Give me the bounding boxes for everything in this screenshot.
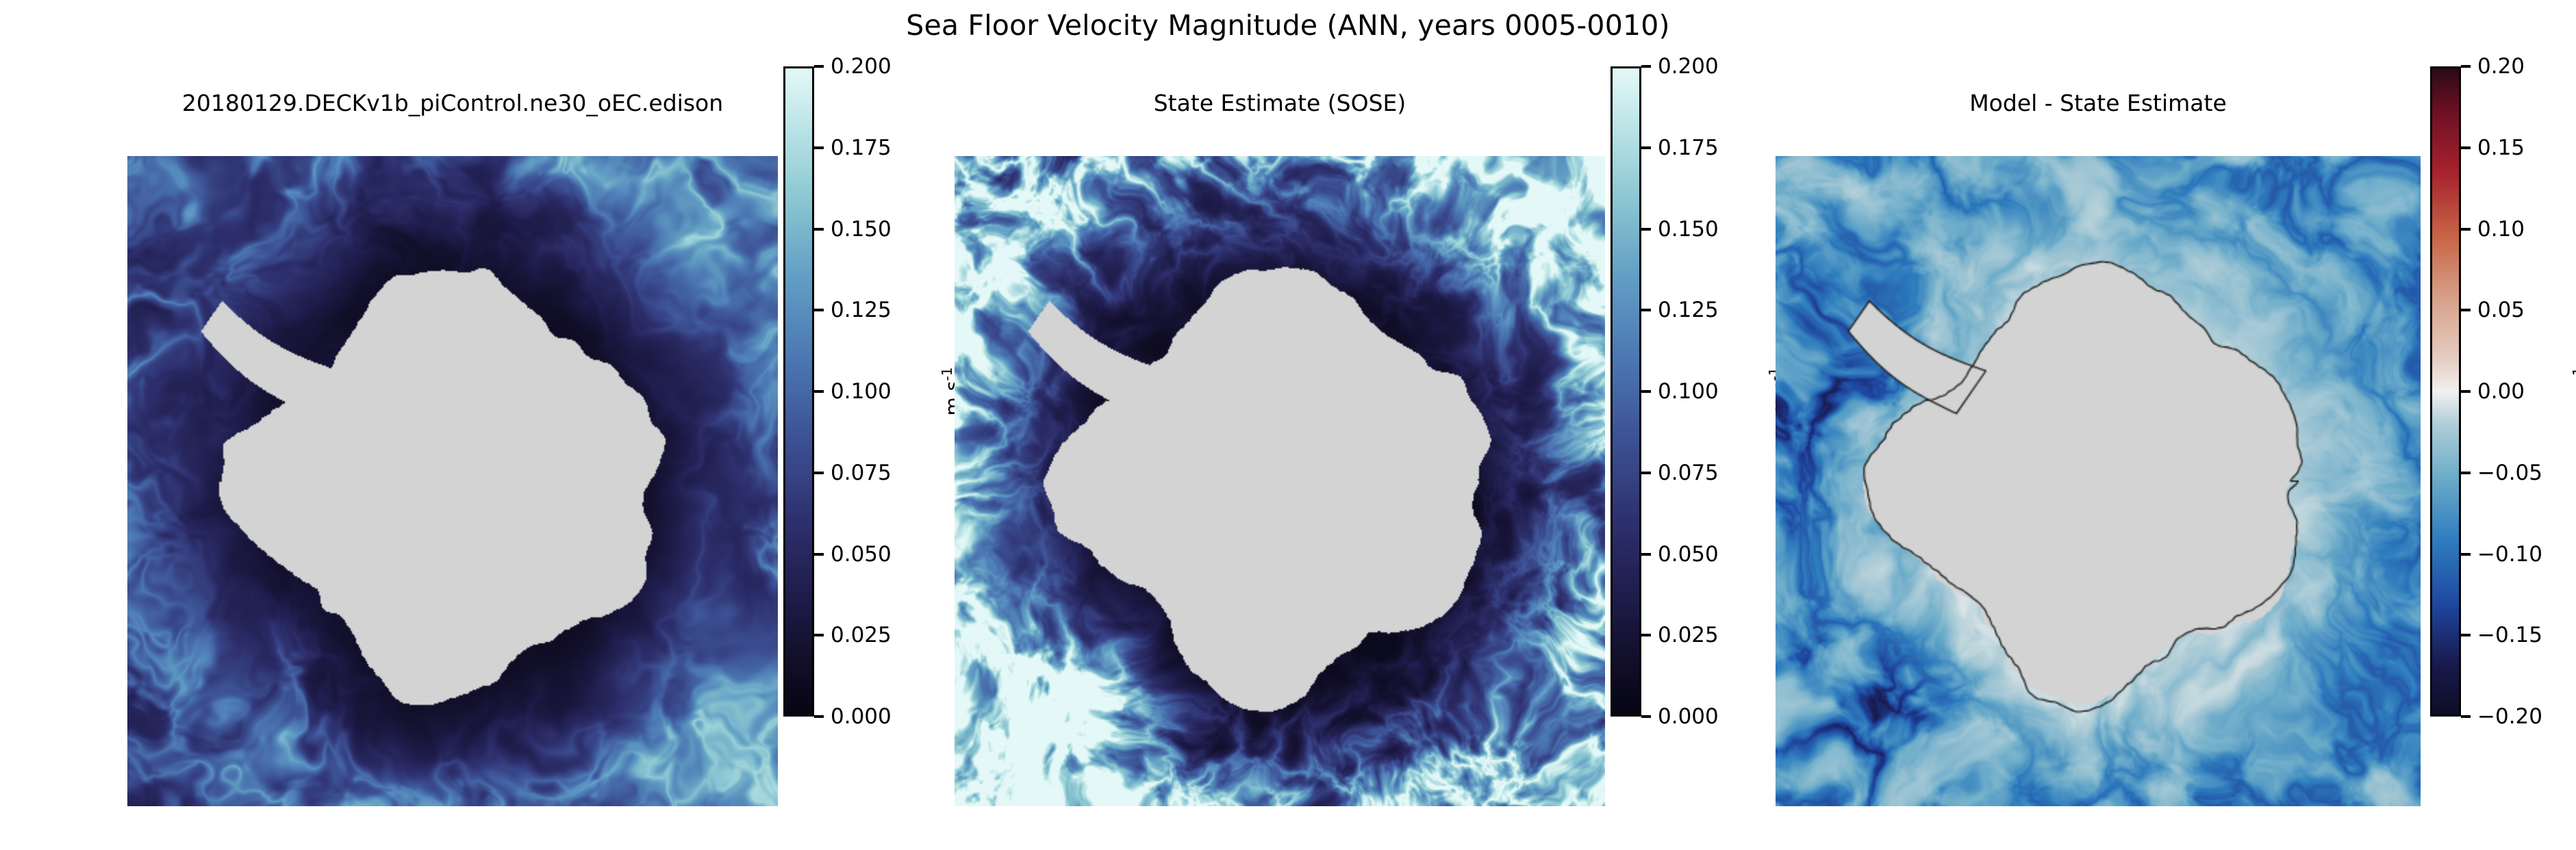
colorbar-tick-label: 0.175: [831, 134, 892, 162]
colorbar-tick-mark: [1641, 146, 1651, 149]
colorbar-tick-mark: [814, 309, 824, 311]
colorbar-unit-exponent-model: -1: [939, 368, 955, 381]
colorbar-tick-mark: [1641, 390, 1651, 393]
colorbar-tick-label: 0.100: [831, 378, 892, 405]
colorbar-tick-mark: [814, 390, 824, 393]
colorbar-tick-label: 0.10: [2477, 216, 2525, 243]
colorbar-tick-mark: [814, 472, 824, 474]
colorbar-tick-label: 0.200: [831, 53, 892, 80]
colorbar-tick-mark: [2461, 309, 2471, 311]
figure-title: Sea Floor Velocity Magnitude (ANN, years…: [0, 9, 2576, 42]
colorbar-tick-mark: [814, 146, 824, 149]
colorbar-tick-label: 0.05: [2477, 296, 2525, 324]
map-canvas-difference: [1776, 156, 2421, 806]
colorbar-tick-label: 0.025: [1658, 621, 1719, 649]
colorbar-tick-mark: [2461, 553, 2471, 556]
colorbar-tick-label: 0.000: [831, 703, 892, 730]
colorbar-tick-label: 0.100: [1658, 378, 1719, 405]
colorbar-tick-label: −0.05: [2477, 459, 2542, 487]
colorbar-unit-difference: m s-1: [2570, 368, 2576, 416]
colorbar-tick-label: 0.025: [831, 621, 892, 649]
colorbar-tick-mark: [1641, 472, 1651, 474]
colorbar-tick-mark: [1641, 634, 1651, 636]
colorbar-tick-label: −0.10: [2477, 541, 2542, 568]
colorbar-tick-label: 0.20: [2477, 53, 2525, 80]
colorbar-tick-label: 0.00: [2477, 378, 2525, 405]
colorbar-gradient-difference: [2430, 66, 2461, 717]
colorbar-tick-mark: [2461, 634, 2471, 636]
panel-title-sose: State Estimate (SOSE): [955, 90, 1605, 116]
colorbar-tick-mark: [1641, 553, 1651, 556]
map-model[interactable]: [127, 156, 778, 806]
colorbar-tick-mark: [1641, 715, 1651, 718]
map-difference[interactable]: [1776, 156, 2421, 806]
colorbar-tick-label: 0.150: [831, 216, 892, 243]
colorbar-tick-mark: [1641, 309, 1651, 311]
colorbar-tick-mark: [814, 715, 824, 718]
colorbar-tick-label: 0.050: [831, 541, 892, 568]
colorbar-tick-mark: [2461, 146, 2471, 149]
colorbar-gradient-model: [783, 66, 814, 717]
panel-title-model: 20180129.DECKv1b_piControl.ne30_oEC.edis…: [127, 90, 778, 116]
colorbar-unit-exponent-difference: -1: [2570, 368, 2576, 381]
map-canvas-model: [127, 156, 778, 806]
colorbar-tick-label: −0.20: [2477, 703, 2542, 730]
colorbar-tick-label: 0.050: [1658, 541, 1719, 568]
panel-title-difference: Model - State Estimate: [1776, 90, 2421, 116]
colorbar-ticks-difference: 0.200.150.100.050.00−0.05−0.10−0.15−0.20: [2461, 66, 2576, 717]
colorbar-tick-label: 0.125: [1658, 296, 1719, 324]
colorbar-tick-mark: [814, 65, 824, 68]
colorbar-tick-label: 0.200: [1658, 53, 1719, 80]
colorbar-tick-label: −0.15: [2477, 621, 2542, 649]
colorbar-tick-mark: [2461, 228, 2471, 231]
colorbar-tick-label: 0.15: [2477, 134, 2525, 162]
colorbar-tick-label: 0.000: [1658, 703, 1719, 730]
colorbar-tick-mark: [814, 634, 824, 636]
map-sose[interactable]: [955, 156, 1605, 806]
colorbar-unit-text-difference: m s: [2572, 381, 2576, 416]
colorbar-tick-mark: [2461, 65, 2471, 68]
colorbar-tick-mark: [2461, 472, 2471, 474]
colorbar-tick-mark: [814, 228, 824, 231]
colorbar-tick-mark: [1641, 228, 1651, 231]
colorbar-tick-mark: [814, 553, 824, 556]
colorbar-tick-mark: [1641, 65, 1651, 68]
colorbar-tick-mark: [2461, 715, 2471, 718]
colorbar-tick-label: 0.075: [1658, 459, 1719, 487]
map-canvas-sose: [955, 156, 1605, 806]
colorbar-tick-label: 0.125: [831, 296, 892, 324]
colorbar-tick-label: 0.175: [1658, 134, 1719, 162]
colorbar-tick-label: 0.150: [1658, 216, 1719, 243]
colorbar-gradient-sose: [1611, 66, 1641, 717]
colorbar-tick-label: 0.075: [831, 459, 892, 487]
colorbar-tick-mark: [2461, 390, 2471, 393]
